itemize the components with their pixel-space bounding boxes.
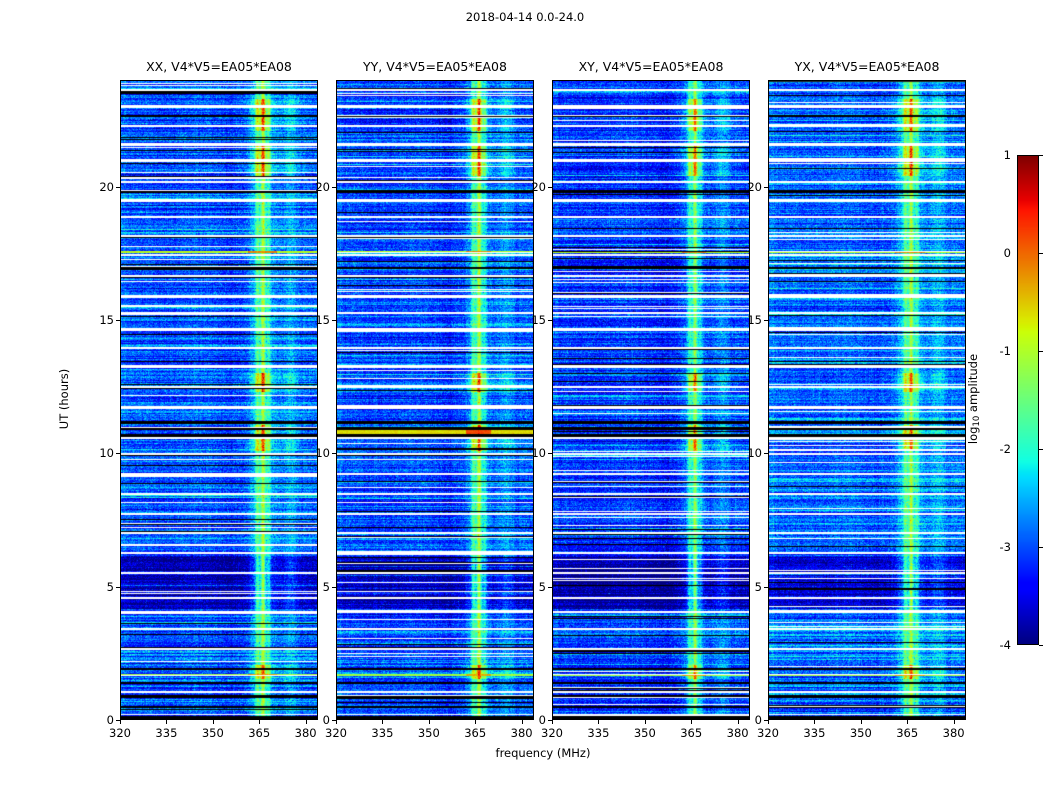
xtick-mark (429, 720, 430, 724)
ytick-mark (764, 453, 768, 454)
ytick-label: 10 (516, 446, 546, 460)
ytick-mark (116, 587, 120, 588)
ytick-mark (116, 720, 120, 721)
colorbar-tick-label: 1 (981, 148, 1011, 162)
ytick-label: 20 (732, 180, 762, 194)
ytick-mark (332, 187, 336, 188)
ytick-mark (548, 320, 552, 321)
ytick-label: 0 (732, 713, 762, 727)
xtick-label: 335 (587, 726, 609, 740)
ytick-mark (116, 453, 120, 454)
ytick-mark (332, 587, 336, 588)
xtick-label: 380 (511, 726, 533, 740)
xtick-label: 380 (295, 726, 317, 740)
xtick-mark (768, 720, 769, 724)
xtick-mark (166, 720, 167, 724)
panel-title-yx: YX, V4*V5=EA05*EA08 (768, 59, 966, 74)
ytick-label: 20 (84, 180, 114, 194)
xtick-label: 350 (850, 726, 872, 740)
ytick-mark (116, 320, 120, 321)
colorbar-tick-label: -4 (981, 638, 1011, 652)
ytick-mark (548, 720, 552, 721)
ytick-label: 15 (84, 313, 114, 327)
figure-suptitle: 2018-04-14 0.0-24.0 (0, 10, 1050, 24)
colorbar-tick-mark (1039, 253, 1043, 254)
figure-canvas: 2018-04-14 0.0-24.0 XX, V4*V5=EA05*EA083… (0, 0, 1050, 800)
xtick-label: 350 (634, 726, 656, 740)
xtick-label: 320 (541, 726, 563, 740)
x-axis-label: frequency (MHz) (120, 746, 966, 760)
xtick-mark (954, 720, 955, 724)
spectrogram-image-xy (552, 80, 750, 720)
ytick-mark (764, 187, 768, 188)
spectrogram-image-yy (336, 80, 534, 720)
panel-title-xx: XX, V4*V5=EA05*EA08 (120, 59, 318, 74)
colorbar-label-subscript: 10 (972, 416, 982, 427)
xtick-label: 320 (757, 726, 779, 740)
panel-title-yy: YY, V4*V5=EA05*EA08 (336, 59, 534, 74)
spectrogram-panel-xx: XX, V4*V5=EA05*EA08 (120, 80, 318, 720)
xtick-label: 380 (727, 726, 749, 740)
xtick-mark (861, 720, 862, 724)
xtick-label: 320 (109, 726, 131, 740)
xtick-label: 365 (464, 726, 486, 740)
ytick-label: 10 (84, 446, 114, 460)
ytick-mark (548, 453, 552, 454)
xtick-label: 335 (371, 726, 393, 740)
colorbar-label-prefix: log (966, 427, 980, 445)
colorbar-tick-mark (1039, 449, 1043, 450)
ytick-mark (332, 320, 336, 321)
ytick-label: 5 (732, 580, 762, 594)
ytick-label: 20 (516, 180, 546, 194)
colorbar-label: log10 amplitude (966, 154, 980, 644)
ytick-mark (332, 720, 336, 721)
ytick-label: 20 (300, 180, 330, 194)
spectrogram-panel-xy: XY, V4*V5=EA05*EA08 (552, 80, 750, 720)
ytick-mark (764, 587, 768, 588)
ytick-label: 15 (516, 313, 546, 327)
colorbar-tick-label: -3 (981, 540, 1011, 554)
xtick-mark (213, 720, 214, 724)
colorbar-tick-label: 0 (981, 246, 1011, 260)
spectrogram-image-yx (768, 80, 966, 720)
xtick-label: 350 (202, 726, 224, 740)
xtick-mark (598, 720, 599, 724)
xtick-mark (475, 720, 476, 724)
colorbar-tick-label: -1 (981, 344, 1011, 358)
ytick-mark (548, 187, 552, 188)
spectrogram-image-xx (120, 80, 318, 720)
ytick-label: 5 (84, 580, 114, 594)
ytick-label: 5 (516, 580, 546, 594)
colorbar-tick-mark (1039, 155, 1043, 156)
ytick-mark (764, 320, 768, 321)
colorbar-tick-label: -2 (981, 442, 1011, 456)
ytick-mark (332, 453, 336, 454)
colorbar-tick-mark (1039, 645, 1043, 646)
ytick-mark (764, 720, 768, 721)
ytick-label: 5 (300, 580, 330, 594)
xtick-mark (120, 720, 121, 724)
xtick-label: 335 (803, 726, 825, 740)
colorbar-tick-mark (1039, 547, 1043, 548)
ytick-mark (116, 187, 120, 188)
ytick-label: 0 (300, 713, 330, 727)
xtick-label: 335 (155, 726, 177, 740)
colorbar-label-suffix: amplitude (966, 354, 980, 416)
xtick-label: 365 (248, 726, 270, 740)
xtick-mark (814, 720, 815, 724)
spectrogram-panel-yy: YY, V4*V5=EA05*EA08 (336, 80, 534, 720)
ytick-label: 0 (84, 713, 114, 727)
xtick-mark (645, 720, 646, 724)
y-axis-label: UT (hours) (57, 79, 71, 719)
colorbar-gradient (1017, 155, 1039, 645)
ytick-label: 15 (300, 313, 330, 327)
xtick-label: 365 (680, 726, 702, 740)
colorbar (1017, 155, 1039, 645)
ytick-mark (548, 587, 552, 588)
ytick-label: 0 (516, 713, 546, 727)
ytick-label: 15 (732, 313, 762, 327)
xtick-mark (907, 720, 908, 724)
xtick-mark (691, 720, 692, 724)
panel-title-xy: XY, V4*V5=EA05*EA08 (552, 59, 750, 74)
xtick-label: 350 (418, 726, 440, 740)
xtick-label: 365 (896, 726, 918, 740)
xtick-mark (552, 720, 553, 724)
ytick-label: 10 (300, 446, 330, 460)
ytick-label: 10 (732, 446, 762, 460)
spectrogram-panel-yx: YX, V4*V5=EA05*EA08 (768, 80, 966, 720)
colorbar-tick-mark (1039, 351, 1043, 352)
xtick-mark (336, 720, 337, 724)
xtick-label: 320 (325, 726, 347, 740)
xtick-label: 380 (943, 726, 965, 740)
xtick-mark (382, 720, 383, 724)
xtick-mark (259, 720, 260, 724)
